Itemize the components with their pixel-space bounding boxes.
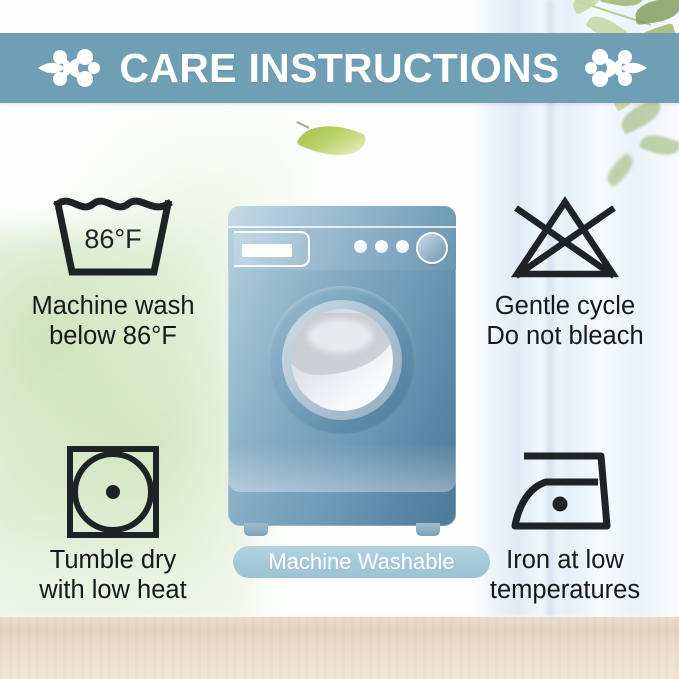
care-symbol-tumble-dry-low: Tumble dry with low heat (8, 442, 218, 605)
detergent-drawer (234, 231, 310, 267)
door-glass-highlight (307, 319, 373, 353)
care-symbol-label: Tumble dry with low heat (8, 546, 218, 605)
detergent-drawer-slot (242, 244, 292, 257)
care-symbol-machine-wash: 86°F Machine wash below 86°F (8, 188, 218, 351)
care-symbol-label: Gentle cycle Do not bleach (460, 292, 670, 351)
machine-washable-badge-label: Machine Washable (268, 551, 454, 573)
washing-machine-illustration (228, 206, 456, 526)
fleur-de-lis-ornament-right-icon (583, 42, 657, 94)
washer-foot-left (244, 523, 268, 536)
machine-washable-badge: Machine Washable (233, 546, 490, 578)
care-instructions-infographic: CARE INSTRUCTIONS (0, 0, 679, 679)
washer-door (268, 286, 416, 434)
wash-temperature-value: 86°F (84, 224, 141, 254)
tumble-dry-low-icon (8, 442, 218, 542)
washer-foot-right (416, 523, 440, 536)
control-knob (416, 232, 448, 264)
washer-door-glass (291, 309, 393, 411)
care-symbol-iron-low: Iron at low temperatures (460, 442, 670, 605)
iron-low-heat-icon (460, 442, 670, 542)
indicator-light-3-icon (396, 240, 409, 253)
washer-door-rim (282, 300, 402, 420)
care-symbol-gentle-cycle-no-bleach: Gentle cycle Do not bleach (460, 188, 670, 351)
crossed-triangle-no-bleach-icon (460, 188, 670, 288)
page-title: CARE INSTRUCTIONS (119, 48, 559, 89)
indicator-light-1-icon (354, 240, 367, 253)
wash-tub-icon: 86°F (8, 188, 218, 288)
care-symbol-label: Iron at low temperatures (460, 546, 670, 605)
fleur-de-lis-ornament-left-icon (28, 42, 102, 94)
care-symbol-label: Machine wash below 86°F (8, 292, 218, 351)
wooden-table-surface (0, 617, 679, 679)
indicator-light-2-icon (375, 240, 388, 253)
washer-top-lid (228, 206, 456, 228)
header-banner: CARE INSTRUCTIONS (0, 33, 679, 103)
